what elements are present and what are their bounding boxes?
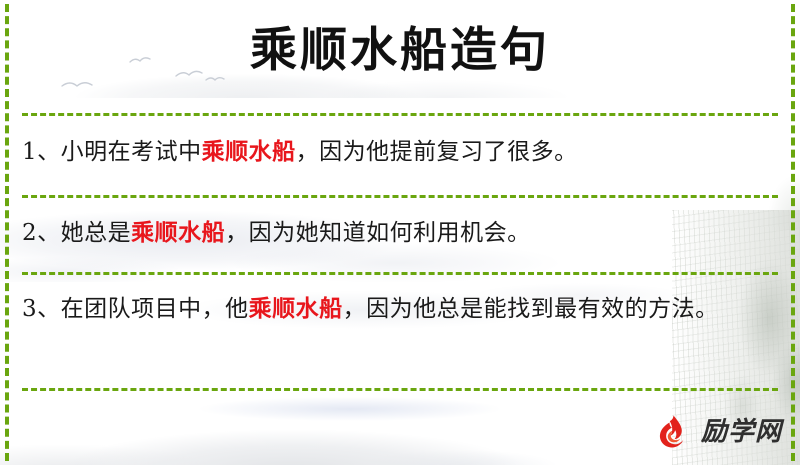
flame-swirl-icon	[653, 412, 693, 452]
separator-after-sentence-3	[22, 388, 778, 391]
page-title: 乘顺水船造句	[0, 22, 800, 81]
highlighted-term: 乘顺水船	[249, 295, 343, 322]
highlighted-term: 乘顺水船	[131, 219, 225, 246]
separator-after-sentence-1	[22, 195, 778, 198]
sentence-index: 3、	[22, 296, 61, 322]
sentence-text-before: 在团队项目中，他	[61, 296, 249, 322]
sentence-index: 2、	[22, 220, 61, 246]
worksheet-page: 乘顺水船造句 1、小明在考试中乘顺水船，因为他提前复习了很多。 2、她总是乘顺水…	[0, 0, 800, 465]
sentence-text-after: ，因为他总是能找到最有效的方法。	[343, 296, 719, 322]
site-logo-text: 励学网	[701, 419, 782, 445]
highlighted-term: 乘顺水船	[202, 138, 296, 165]
separator-under-title	[22, 113, 778, 116]
sentence-text-before: 小明在考试中	[61, 139, 202, 165]
site-logo: 励学网	[653, 409, 782, 455]
list-item: 3、在团队项目中，他乘顺水船，因为他总是能找到最有效的方法。	[22, 290, 774, 328]
sentence-index: 1、	[22, 139, 61, 165]
sentence-text-before: 她总是	[61, 220, 132, 246]
separator-after-sentence-2	[22, 272, 778, 275]
background-haze-watermark	[150, 392, 550, 426]
list-item: 2、她总是乘顺水船，因为她知道如何利用机会。	[22, 214, 774, 252]
list-item: 1、小明在考试中乘顺水船，因为他提前复习了很多。	[22, 133, 774, 171]
sentence-text-after: ，因为他提前复习了很多。	[296, 139, 578, 165]
background-mountain-watermark	[0, 380, 600, 465]
sentence-text-after: ，因为她知道如何利用机会。	[225, 220, 531, 246]
